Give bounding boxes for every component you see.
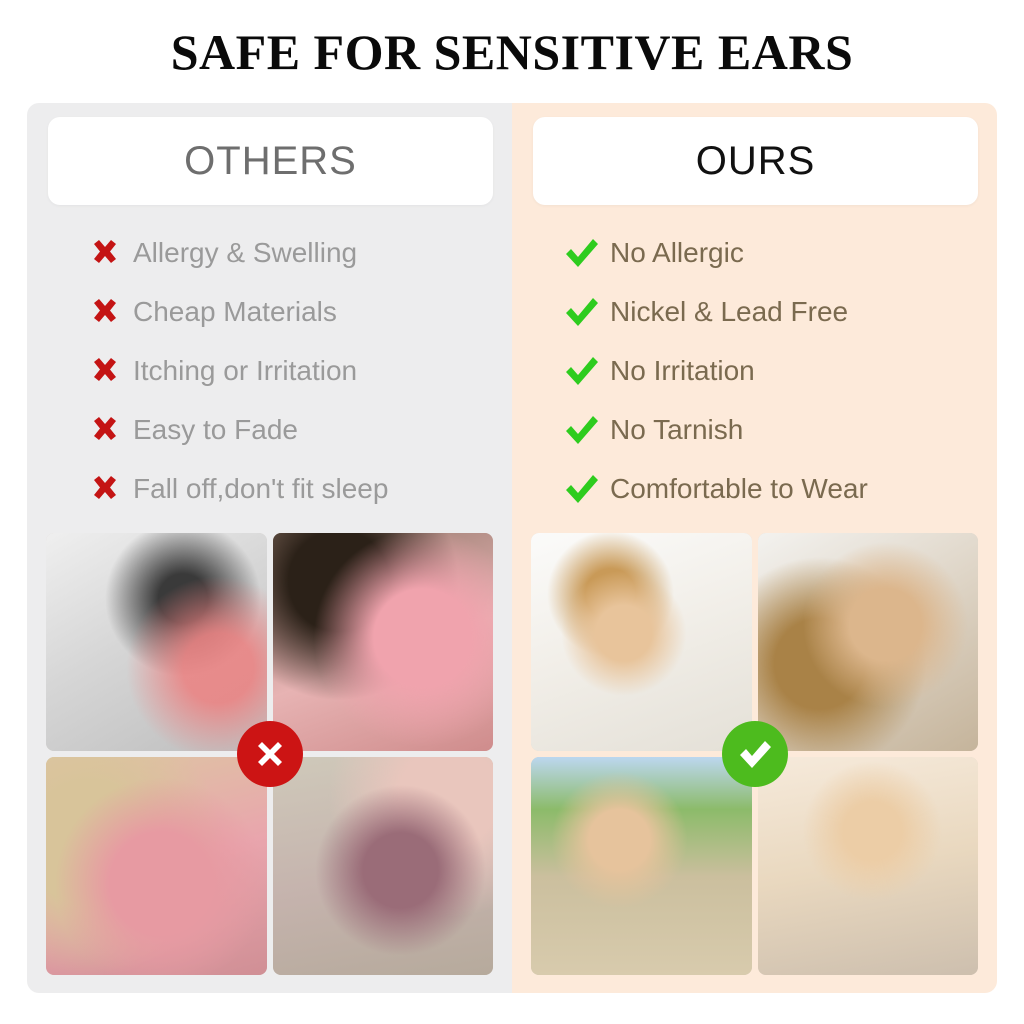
x-icon: [77, 472, 133, 506]
photo-swollen-earlobe: [46, 757, 267, 975]
x-icon: [77, 236, 133, 270]
check-icon: [554, 413, 610, 447]
check-icon: [554, 354, 610, 388]
check-icon: [554, 236, 610, 270]
list-item-label: No Irritation: [610, 355, 755, 387]
list-item-label: Itching or Irritation: [133, 355, 357, 387]
others-header-label: OTHERS: [184, 139, 357, 184]
others-feature-list: Allergy & Swelling Cheap Materials Itchi…: [77, 223, 517, 518]
list-item-label: No Tarnish: [610, 414, 743, 446]
photo-pierced-ear-inflamed: [273, 533, 494, 751]
photo-shower: [758, 533, 979, 751]
panel-ours: OURS No Allergic Nickel & Lead Free: [512, 103, 997, 993]
list-item: Comfortable to Wear: [554, 459, 999, 518]
x-icon: [77, 354, 133, 388]
ours-feature-list: No Allergic Nickel & Lead Free No Irrita…: [554, 223, 999, 518]
list-item-label: Comfortable to Wear: [610, 473, 868, 505]
x-icon: [77, 413, 133, 447]
list-item: No Irritation: [554, 341, 999, 400]
list-item: Easy to Fade: [77, 400, 517, 459]
list-item-label: Nickel & Lead Free: [610, 296, 848, 328]
photo-running: [531, 757, 752, 975]
photo-infected-earlobe: [273, 757, 494, 975]
ours-photo-grid: [531, 533, 978, 975]
list-item-label: Fall off,don't fit sleep: [133, 473, 388, 505]
comparison-infographic: SAFE FOR SENSITIVE EARS OTHERS Allergy &…: [0, 0, 1024, 1024]
x-icon: [77, 295, 133, 329]
list-item-label: Easy to Fade: [133, 414, 298, 446]
list-item-label: Allergy & Swelling: [133, 237, 357, 269]
photo-working-laptop: [758, 757, 979, 975]
list-item: Nickel & Lead Free: [554, 282, 999, 341]
list-item-label: No Allergic: [610, 237, 744, 269]
list-item: Allergy & Swelling: [77, 223, 517, 282]
list-item: No Tarnish: [554, 400, 999, 459]
photo-sleeping: [531, 533, 752, 751]
check-icon: [554, 472, 610, 506]
others-header-card: OTHERS: [48, 117, 493, 205]
ours-header-card: OURS: [533, 117, 978, 205]
comparison-panels: OTHERS Allergy & Swelling Cheap Material…: [27, 103, 997, 993]
circle-check-icon: [722, 721, 788, 787]
list-item: No Allergic: [554, 223, 999, 282]
others-photo-grid: [46, 533, 493, 975]
check-icon: [554, 295, 610, 329]
list-item-label: Cheap Materials: [133, 296, 337, 328]
list-item: Cheap Materials: [77, 282, 517, 341]
page-title: SAFE FOR SENSITIVE EARS: [0, 22, 1024, 82]
list-item: Fall off,don't fit sleep: [77, 459, 517, 518]
list-item: Itching or Irritation: [77, 341, 517, 400]
panel-others: OTHERS Allergy & Swelling Cheap Material…: [27, 103, 512, 993]
ours-header-label: OURS: [696, 139, 816, 184]
circle-x-icon: [237, 721, 303, 787]
photo-ear-pain: [46, 533, 267, 751]
